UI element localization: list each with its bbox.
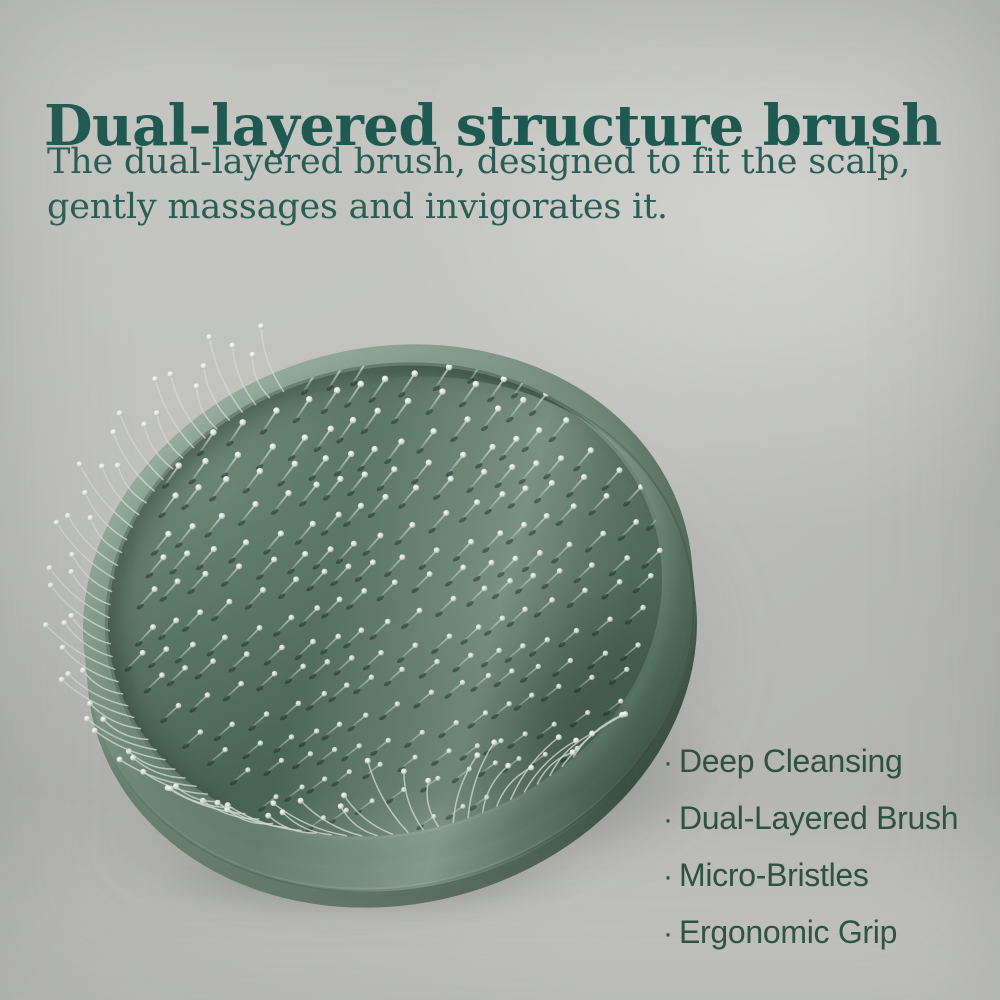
list-item: · Ergonomic Grip <box>663 904 958 961</box>
feature-label: Dual-Layered Brush <box>679 790 958 847</box>
list-item: · Deep Cleansing <box>663 733 958 790</box>
feature-label: Ergonomic Grip <box>679 904 897 961</box>
feature-label: Micro-Bristles <box>679 847 869 904</box>
page-subtitle-line-2: gently massages and invigorates it. <box>47 185 927 230</box>
product-feature-graphic: Dual-layered structure brush The dual-la… <box>0 0 1000 1000</box>
bullet-icon: · <box>663 734 679 791</box>
feature-label: Deep Cleansing <box>679 733 903 790</box>
feature-list: · Deep Cleansing · Dual-Layered Brush · … <box>663 733 958 961</box>
page-subtitle: The dual-layered brush, designed to fit … <box>47 140 927 230</box>
page-subtitle-line-1: The dual-layered brush, designed to fit … <box>47 140 927 185</box>
list-item: · Dual-Layered Brush <box>663 790 958 847</box>
list-item: · Micro-Bristles <box>663 847 958 904</box>
bullet-icon: · <box>663 905 679 962</box>
bullet-icon: · <box>663 848 679 905</box>
product-image-hair-brush <box>32 262 680 898</box>
bullet-icon: · <box>663 791 679 848</box>
